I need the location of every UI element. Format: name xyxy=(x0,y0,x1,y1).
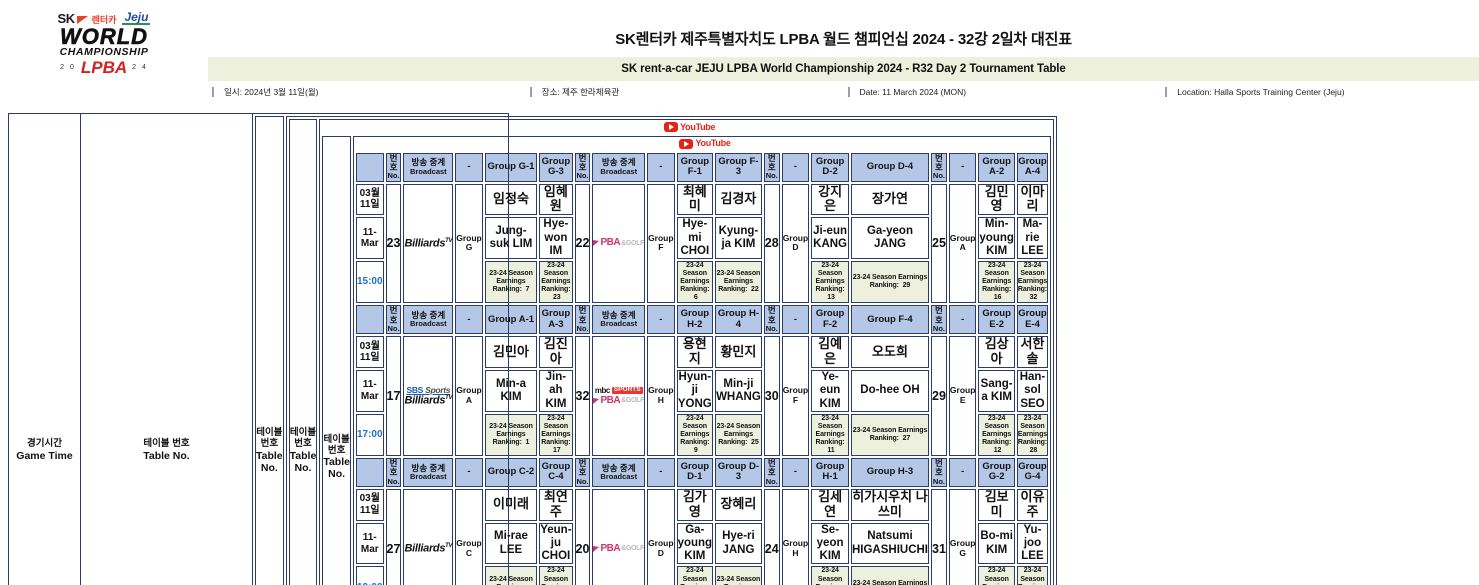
broadcast-logo-sbs-billiardstv: SBS SportsBilliardsTV xyxy=(404,386,452,406)
player-rank-right: 23-24 Season Earnings Ranking: 24 xyxy=(851,566,929,585)
col-header-no-2: 번호No. xyxy=(575,458,591,487)
player-name-kr-right: 최연주 xyxy=(539,489,572,521)
group-name: Group H xyxy=(647,336,675,456)
sk-swoosh-icon xyxy=(77,16,90,25)
player-rank-left: 23-24 Season Earnings Ranking: 9 xyxy=(677,414,714,456)
broadcast-logo-pba-golf: PBA&GOLF xyxy=(593,544,644,554)
info-venue-en: Location: Halla Sports Training Center (… xyxy=(1165,87,1479,97)
slot-label-left-4: Group A-2 xyxy=(978,153,1014,182)
group-name: Group A xyxy=(455,336,483,456)
turn-date-kr: 03월 11일 xyxy=(356,336,384,368)
col-header-broadcast-1: 방송 중계Broadcast xyxy=(403,153,453,182)
slot-label-left-1: Group C-2 xyxy=(485,458,537,487)
col-header-no-1: 번호No. xyxy=(386,305,402,334)
match-no: 20 xyxy=(575,489,591,585)
group-name: Group G xyxy=(949,489,977,585)
player-rank-right: 23-24 Season Earnings Ranking: 27 xyxy=(851,414,929,456)
col-header-table-no-2: 테이블 번호Table No. xyxy=(255,116,284,585)
match-no: 28 xyxy=(764,184,780,304)
group-name: Group E xyxy=(949,336,977,456)
player-rank-left: 23-24 Season Earnings Ranking: 1 xyxy=(485,414,537,456)
player-name-kr-right: 김진아 xyxy=(539,336,572,368)
info-venue-kr: 장소: 제주 한라체육관 xyxy=(530,87,844,97)
col-header-dash-1: - xyxy=(455,305,483,334)
match-no: 30 xyxy=(764,336,780,456)
slot-label-right-4: Group G-4 xyxy=(1017,458,1048,487)
slot-label-left-4: Group E-2 xyxy=(978,305,1014,334)
player-name-en-right: Do-hee OH xyxy=(851,370,929,412)
group-name: Group F xyxy=(647,184,675,304)
player-name-kr-left: 김예은 xyxy=(811,336,849,368)
logo-lpba-text: LPBA xyxy=(81,59,127,76)
player-name-kr-right: 장가연 xyxy=(851,184,929,216)
slot-label-right-1: Group G-3 xyxy=(539,153,572,182)
match-no: 31 xyxy=(931,489,947,585)
broadcast-cell: SBS SportsBilliardsTV xyxy=(403,336,453,456)
player-rank-right: 23-24 Season Earnings Ranking: 26 xyxy=(1017,566,1048,585)
group-name: Group D xyxy=(782,184,810,304)
col-header-no-3: 번호No. xyxy=(764,458,780,487)
player-name-kr-right: 히가시우치 나쓰미 xyxy=(851,489,929,521)
turn-time: 17:00 xyxy=(356,414,384,456)
match-no: 29 xyxy=(931,336,947,456)
turn-subheader-row: 번호No.방송 중계Broadcast-Group C-2Group C-4번호… xyxy=(356,458,1048,487)
player-name-kr-left: 이미래 xyxy=(485,489,537,521)
player-name-kr-left: 김민아 xyxy=(485,336,537,368)
col-header-broadcast-2: 방송 중계Broadcast xyxy=(592,458,645,487)
slot-label-left-2: Group H-2 xyxy=(677,305,714,334)
player-rank-right: 23-24 Season Earnings Ranking: 28 xyxy=(1017,414,1048,456)
player-name-kr-right: 김경자 xyxy=(715,184,762,216)
turn-label xyxy=(356,305,384,334)
player-name-en-left: Jung-suk LIM xyxy=(485,217,537,259)
player-rank-right: 23-24 Season Earnings Ranking: 17 xyxy=(539,414,572,456)
broadcast-cell: PBA&GOLF xyxy=(592,184,645,304)
event-info-row: 일시: 2024년 3월 11일(월) 장소: 제주 한라체육관 Date: 1… xyxy=(208,81,1479,101)
player-name-kr-left: 최혜미 xyxy=(677,184,714,216)
col-header-dash-1: - xyxy=(455,458,483,487)
table-title-3: YouTube테이블 번호Table No.YouTube번호No.방송 중계B… xyxy=(319,119,1054,585)
slot-label-left-1: Group A-1 xyxy=(485,305,537,334)
page-header: SK 렌터카 Jeju WORLD CHAMPIONSHIP 2 0 LPBA … xyxy=(0,0,1479,113)
broadcast-cell: PBA&GOLF xyxy=(592,489,645,585)
player-name-en-right: Yu-joo LEE xyxy=(1017,523,1048,565)
page-subtitle: SK rent-a-car JEJU LPBA World Championsh… xyxy=(208,57,1479,81)
group-name: Group G xyxy=(455,184,483,304)
group-name: Group F xyxy=(782,336,810,456)
logo-year-right: 2 4 xyxy=(132,64,148,71)
player-name-en-right: Ma-rie LEE xyxy=(1017,217,1048,259)
logo-world-text: WORLD xyxy=(38,26,170,48)
player-name-en-right: Han-sol SEO xyxy=(1017,370,1048,412)
match-no: 22 xyxy=(575,184,591,304)
player-rank-right: 23-24 Season Earnings Ranking: 22 xyxy=(715,261,762,303)
slot-label-left-3: Group D-2 xyxy=(811,153,849,182)
player-rank-left: 23-24 Season Earnings Ranking: 4 xyxy=(677,566,714,585)
col-header-no-4: 번호No. xyxy=(931,458,947,487)
player-rank-right: 23-24 Season Earnings Ranking: 25 xyxy=(715,414,762,456)
slot-label-right-3: Group H-3 xyxy=(851,458,929,487)
turn-label xyxy=(356,153,384,182)
player-rank-left: 23-24 Season Earnings Ranking: 12 xyxy=(978,414,1014,456)
info-date-kr: 일시: 2024년 3월 11일(월) xyxy=(212,87,526,97)
col-header-no-1: 번호No. xyxy=(386,458,402,487)
player-name-en-left: Mi-rae LEE xyxy=(485,523,537,565)
player-name-en-right: Kyung-ja KIM xyxy=(715,217,762,259)
player-name-kr-right: 임혜원 xyxy=(539,184,572,216)
slot-label-right-1: Group C-4 xyxy=(539,458,572,487)
player-name-kr-right: 장혜리 xyxy=(715,489,762,521)
col-header-no-1: 번호No. xyxy=(386,153,402,182)
player-name-en-left: Hye-mi CHOI xyxy=(677,217,714,259)
turn-date-en: 11-Mar xyxy=(356,217,384,259)
slot-label-right-3: Group F-4 xyxy=(851,305,929,334)
slot-label-right-1: Group A-3 xyxy=(539,305,572,334)
col-header-table-no-3: 테이블 번호Table No. xyxy=(289,119,318,585)
player-name-kr-right: 황민지 xyxy=(715,336,762,368)
player-name-kr-left: 김민영 xyxy=(978,184,1014,216)
broadcast-cell: BilliardsTV xyxy=(403,489,453,585)
col-header-no-2: 번호No. xyxy=(575,305,591,334)
col-header-no-3: 번호No. xyxy=(764,305,780,334)
page-title: SK렌터카 제주특별자치도 LPBA 월드 챔피언십 2024 - 32강 2일… xyxy=(208,0,1479,57)
group-name: Group D xyxy=(647,489,675,585)
slot-label-right-2: Group D-3 xyxy=(715,458,762,487)
player-name-en-left: Ga-young KIM xyxy=(677,523,714,565)
turn-time: 15:00 xyxy=(356,261,384,303)
slot-label-right-4: Group E-4 xyxy=(1017,305,1048,334)
col-header-dash-4: - xyxy=(949,458,977,487)
tournament-table-body: 경기시간Game Time테이블 번호Table No.테이블 번호Table … xyxy=(9,114,1479,585)
player-name-kr-left: 강지은 xyxy=(811,184,849,216)
player-rank-right: 23-24 Season Earnings Ranking: 29 xyxy=(851,261,929,303)
col-header-dash-2: - xyxy=(647,153,675,182)
slot-label-left-1: Group G-1 xyxy=(485,153,537,182)
player-name-kr-right: 서한솔 xyxy=(1017,336,1048,368)
slot-label-left-4: Group G-2 xyxy=(978,458,1014,487)
slot-label-left-2: Group D-1 xyxy=(677,458,714,487)
match-row-kr: 03월 11일17SBS SportsBilliardsTVGroup A김민아… xyxy=(356,336,1048,368)
col-header-dash-4: - xyxy=(949,153,977,182)
tournament-table: 경기시간Game Time테이블 번호Table No.테이블 번호Table … xyxy=(8,113,1479,585)
player-name-en-right: Jin-ah KIM xyxy=(539,370,572,412)
player-name-en-right: Min-ji WHANG xyxy=(715,370,762,412)
broadcast-logo-mbc-pba-golf: mbcSPORTSPBA&GOLF xyxy=(593,387,644,406)
table-header-row: 경기시간Game Time테이블 번호Table No.테이블 번호Table … xyxy=(9,114,1479,585)
player-rank-left: 23-24 Season Earnings Ranking: 7 xyxy=(485,261,537,303)
match-no: 32 xyxy=(575,336,591,456)
slot-label-right-3: Group D-4 xyxy=(851,153,929,182)
player-name-kr-right: 오도희 xyxy=(851,336,929,368)
slot-label-left-3: Group F-2 xyxy=(811,305,849,334)
player-name-kr-left: 김보미 xyxy=(978,489,1014,521)
player-name-kr-left: 김상아 xyxy=(978,336,1014,368)
player-name-en-left: Sang-a KIM xyxy=(978,370,1014,412)
slot-label-right-2: Group F-3 xyxy=(715,153,762,182)
table-title-1: 테이블 번호Table No.테이블 번호Table No.YouTube테이블… xyxy=(253,114,509,585)
player-name-en-left: Bo-mi KIM xyxy=(978,523,1014,565)
player-rank-right: 23-24 Season Earnings Ranking: 32 xyxy=(1017,261,1048,303)
player-rank-right: 23-24 Season Earnings Ranking: 30 xyxy=(539,566,572,585)
player-name-en-left: Hyun-ji YONG xyxy=(677,370,714,412)
player-name-en-right: Natsumi HIGASHIUCHI xyxy=(851,523,929,565)
broadcast-logo-billiardstv: BilliardsTV xyxy=(404,543,452,555)
player-name-kr-left: 용현지 xyxy=(677,336,714,368)
match-no: 27 xyxy=(386,489,402,585)
player-name-en-left: Ye-eun KIM xyxy=(811,370,849,412)
player-name-en-left: Se-yeon KIM xyxy=(811,523,849,565)
broadcast-cell: mbcSPORTSPBA&GOLF xyxy=(592,336,645,456)
col-header-dash-2: - xyxy=(647,458,675,487)
col-header-dash-4: - xyxy=(949,305,977,334)
player-rank-left: 23-24 Season Earnings Ranking: 14 xyxy=(485,566,537,585)
turn-date-kr: 03월 11일 xyxy=(356,489,384,521)
col-header-broadcast-1: 방송 중계Broadcast xyxy=(403,305,453,334)
logo-year-left: 2 0 xyxy=(60,64,76,71)
player-name-en-left: Ji-eun KANG xyxy=(811,217,849,259)
player-rank-left: 23-24 Season Earnings Ranking: 16 xyxy=(978,261,1014,303)
col-header-dash-3: - xyxy=(782,305,810,334)
col-header-no-3: 번호No. xyxy=(764,153,780,182)
turn-label xyxy=(356,458,384,487)
player-name-kr-right: 이마리 xyxy=(1017,184,1048,216)
match-no: 25 xyxy=(931,184,947,304)
match-row-kr: 03월 11일23BilliardsTVGroup G임정숙임혜원22PBA&G… xyxy=(356,184,1048,216)
player-name-kr-left: 임정숙 xyxy=(485,184,537,216)
match-row-kr: 03월 11일27BilliardsTVGroup C이미래최연주20PBA&G… xyxy=(356,489,1048,521)
tournament-page: SK 렌터카 Jeju WORLD CHAMPIONSHIP 2 0 LPBA … xyxy=(0,0,1479,585)
player-name-en-right: Ga-yeon JANG xyxy=(851,217,929,259)
info-date-en: Date: 11 March 2024 (MON) xyxy=(848,87,1162,97)
player-name-kr-left: 김가영 xyxy=(677,489,714,521)
turn-date-kr: 03월 11일 xyxy=(356,184,384,216)
col-header-no-4: 번호No. xyxy=(931,153,947,182)
turn-subheader-row: 번호No.방송 중계Broadcast-Group G-1Group G-3번호… xyxy=(356,153,1048,182)
player-rank-left: 23-24 Season Earnings Ranking: 8 xyxy=(811,566,849,585)
player-name-en-right: Hye-ri JANG xyxy=(715,523,762,565)
match-no: 23 xyxy=(386,184,402,304)
slot-label-left-2: Group F-1 xyxy=(677,153,714,182)
table-title-2: 테이블 번호Table No.YouTube테이블 번호Table No.You… xyxy=(286,116,1057,585)
player-name-en-left: Min-young KIM xyxy=(978,217,1014,259)
match-no: 24 xyxy=(764,489,780,585)
player-rank-left: 23-24 Season Earnings Ranking: 10 xyxy=(978,566,1014,585)
player-name-en-left: Min-a KIM xyxy=(485,370,537,412)
player-name-en-right: Hye-won IM xyxy=(539,217,572,259)
col-header-broadcast-2: 방송 중계Broadcast xyxy=(592,305,645,334)
player-name-kr-right: 이유주 xyxy=(1017,489,1048,521)
player-rank-right: 23-24 Season Earnings Ranking: 20 xyxy=(715,566,762,585)
turn-date-en: 11-Mar xyxy=(356,523,384,565)
broadcast-logo-billiardstv: BilliardsTV xyxy=(404,238,452,250)
slot-label-right-2: Group H-4 xyxy=(715,305,762,334)
logo-jeju-text: Jeju xyxy=(122,11,150,25)
group-name: Group A xyxy=(949,184,977,304)
group-name: Group C xyxy=(455,489,483,585)
col-header-table-no-4: 테이블 번호Table No. xyxy=(322,136,351,585)
player-name-kr-left: 김세연 xyxy=(811,489,849,521)
player-rank-left: 23-24 Season Earnings Ranking: 13 xyxy=(811,261,849,303)
turn-subheader-row: 번호No.방송 중계Broadcast-Group A-1Group A-3번호… xyxy=(356,305,1048,334)
logo-championship-text: CHAMPIONSHIP xyxy=(38,47,170,58)
youtube-icon: YouTube xyxy=(679,138,730,148)
col-header-dash-3: - xyxy=(782,153,810,182)
col-header-table-no-1: 테이블 번호Table No. xyxy=(81,114,253,585)
col-header-no-2: 번호No. xyxy=(575,153,591,182)
col-header-broadcast-2: 방송 중계Broadcast xyxy=(592,153,645,182)
col-header-game-time: 경기시간Game Time xyxy=(9,114,81,585)
turn-time: 19:00 xyxy=(356,566,384,585)
slot-label-left-3: Group H-1 xyxy=(811,458,849,487)
table-title-4: YouTube번호No.방송 중계Broadcast-Group G-1Grou… xyxy=(353,136,1051,585)
turn-date-en: 11-Mar xyxy=(356,370,384,412)
event-logo: SK 렌터카 Jeju WORLD CHAMPIONSHIP 2 0 LPBA … xyxy=(0,0,208,74)
col-header-dash-2: - xyxy=(647,305,675,334)
player-name-en-right: Yeun-ju CHOI xyxy=(539,523,572,565)
player-rank-left: 23-24 Season Earnings Ranking: 11 xyxy=(811,414,849,456)
player-rank-left: 23-24 Season Earnings Ranking: 6 xyxy=(677,261,714,303)
col-header-no-4: 번호No. xyxy=(931,305,947,334)
match-no: 17 xyxy=(386,336,402,456)
youtube-icon: YouTube xyxy=(664,122,715,132)
col-header-broadcast-1: 방송 중계Broadcast xyxy=(403,458,453,487)
col-header-dash-1: - xyxy=(455,153,483,182)
broadcast-logo-pba-golf: PBA&GOLF xyxy=(593,238,644,248)
slot-label-right-4: Group A-4 xyxy=(1017,153,1048,182)
group-name: Group H xyxy=(782,489,810,585)
player-rank-right: 23-24 Season Earnings Ranking: 23 xyxy=(539,261,572,303)
col-header-dash-3: - xyxy=(782,458,810,487)
broadcast-cell: BilliardsTV xyxy=(403,184,453,304)
